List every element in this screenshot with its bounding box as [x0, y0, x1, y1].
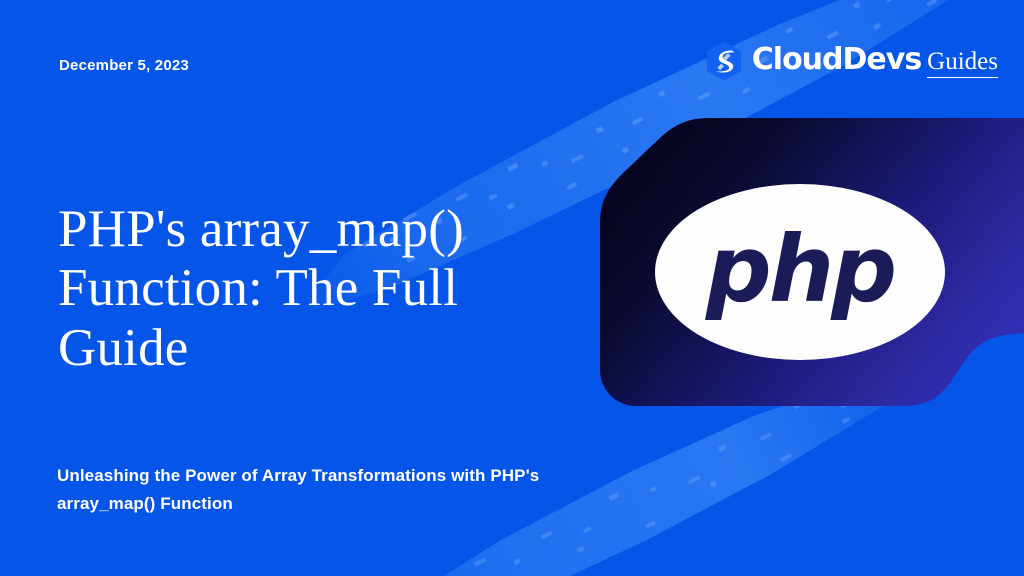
- brand-name: CloudDevs: [752, 45, 921, 75]
- clouddevs-hexagon-ribbon-icon: [703, 40, 745, 82]
- php-logo-card: php: [600, 118, 1024, 426]
- php-logo-ellipse: php: [655, 184, 945, 360]
- publish-date: December 5, 2023: [59, 57, 189, 74]
- brand-lockup: CloudDevs Guides: [703, 40, 998, 82]
- brand-sub: Guides: [927, 49, 998, 78]
- brand-text: CloudDevs Guides: [752, 45, 998, 78]
- page-subtitle: Unleashing the Power of Array Transforma…: [57, 462, 597, 517]
- page-title: PHP's array_map() Function: The Full Gui…: [58, 200, 528, 378]
- slide-canvas: December 5, 2023 CloudDevs Guides: [0, 0, 1024, 576]
- php-wordmark: php: [706, 224, 894, 316]
